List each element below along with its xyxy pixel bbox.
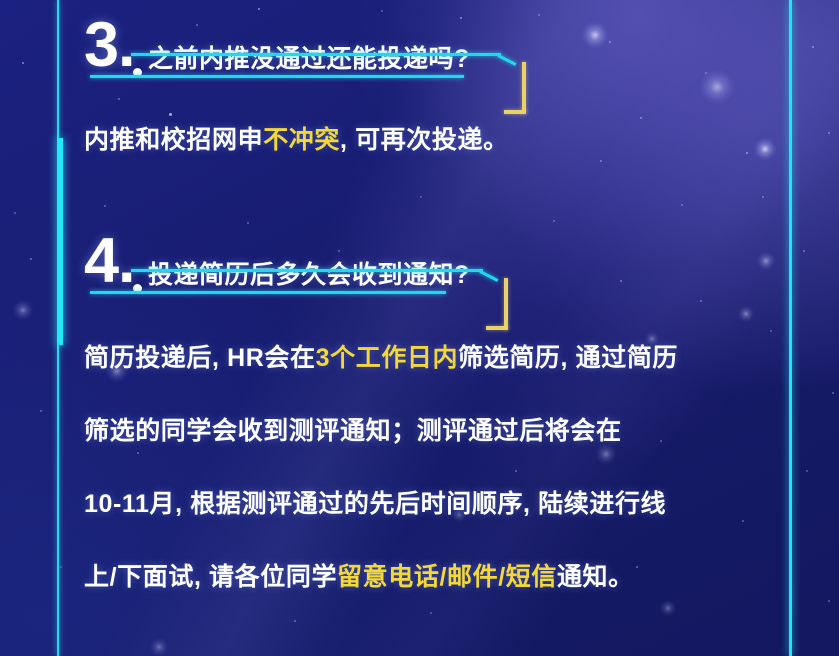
faq-4-number: 4. xyxy=(84,230,135,293)
left-rail-thin-top xyxy=(57,0,59,140)
faq-3-number: 3. xyxy=(84,14,135,77)
faq-4-l3-seg-1: 10-11月, 根据测评通过的先后时间顺序, 陆续进行线 xyxy=(84,490,666,518)
faq-4-l2-seg-1: 筛选的同学会收到测评通知；测评通过后将会在 xyxy=(84,417,622,445)
faq-item-3: 3. 之前内推没通过还能投递吗? 内推和校招网申不冲突, 可再次投递。 xyxy=(84,18,544,92)
right-rail xyxy=(789,0,792,656)
faq-3-bracket-horizontal xyxy=(504,110,526,114)
faq-4-l4-highlight: 留意电话/邮件/短信 xyxy=(337,563,557,591)
faq-3-rule-tail xyxy=(497,54,516,66)
faq-4-rule-top xyxy=(131,269,483,272)
faq-4-rule-tail xyxy=(479,270,498,282)
faq-4-question: 投递简历后多久会收到通知? xyxy=(148,260,470,290)
faq-3-answer-highlight: 不冲突 xyxy=(263,126,340,154)
faq-3-header: 3. 之前内推没通过还能投递吗? xyxy=(84,18,544,92)
faq-3-question: 之前内推没通过还能投递吗? xyxy=(148,44,470,74)
faq-3-bracket-vertical xyxy=(522,62,526,114)
faq-3-rule-top xyxy=(131,53,501,56)
faq-4-answer-line-2: 筛选的同学会收到测评通知；测评通过后将会在 xyxy=(84,395,622,468)
faq-4-l4-seg-2: 通知。 xyxy=(557,563,634,591)
left-rail-thick xyxy=(57,138,63,345)
left-rail-thin-bottom xyxy=(57,343,59,656)
faq-3-rule-bottom xyxy=(90,75,464,78)
faq-4-answer-line-4: 上/下面试, 请各位同学留意电话/邮件/短信通知。 xyxy=(84,541,634,614)
faq-4-l1-seg-1: 简历投递后, HR会在 xyxy=(84,344,316,372)
faq-3-answer-line-1: 内推和校招网申不冲突, 可再次投递。 xyxy=(84,125,509,155)
faq-3-answer-seg-1: 内推和校招网申 xyxy=(84,126,263,154)
poster-canvas: 3. 之前内推没通过还能投递吗? 内推和校招网申不冲突, 可再次投递。 4. 投… xyxy=(0,0,839,656)
faq-4-rule-bottom xyxy=(90,291,446,294)
faq-3-answer-seg-2: , 可再次投递。 xyxy=(340,126,509,154)
faq-4-header: 4. 投递简历后多久会收到通知? xyxy=(84,234,784,308)
faq-4-l4-seg-1: 上/下面试, 请各位同学 xyxy=(84,563,337,591)
faq-4-answer-line-1: 简历投递后, HR会在3个工作日内筛选简历, 通过简历 xyxy=(84,322,678,395)
faq-4-l1-highlight: 3个工作日内 xyxy=(316,344,459,372)
faq-item-4: 4. 投递简历后多久会收到通知? 简历投递后, HR会在3个工作日内筛选简历, … xyxy=(84,234,784,308)
faq-4-answer-line-3: 10-11月, 根据测评通过的先后时间顺序, 陆续进行线 xyxy=(84,468,666,541)
faq-4-l1-seg-2: 筛选简历, 通过简历 xyxy=(458,344,678,372)
